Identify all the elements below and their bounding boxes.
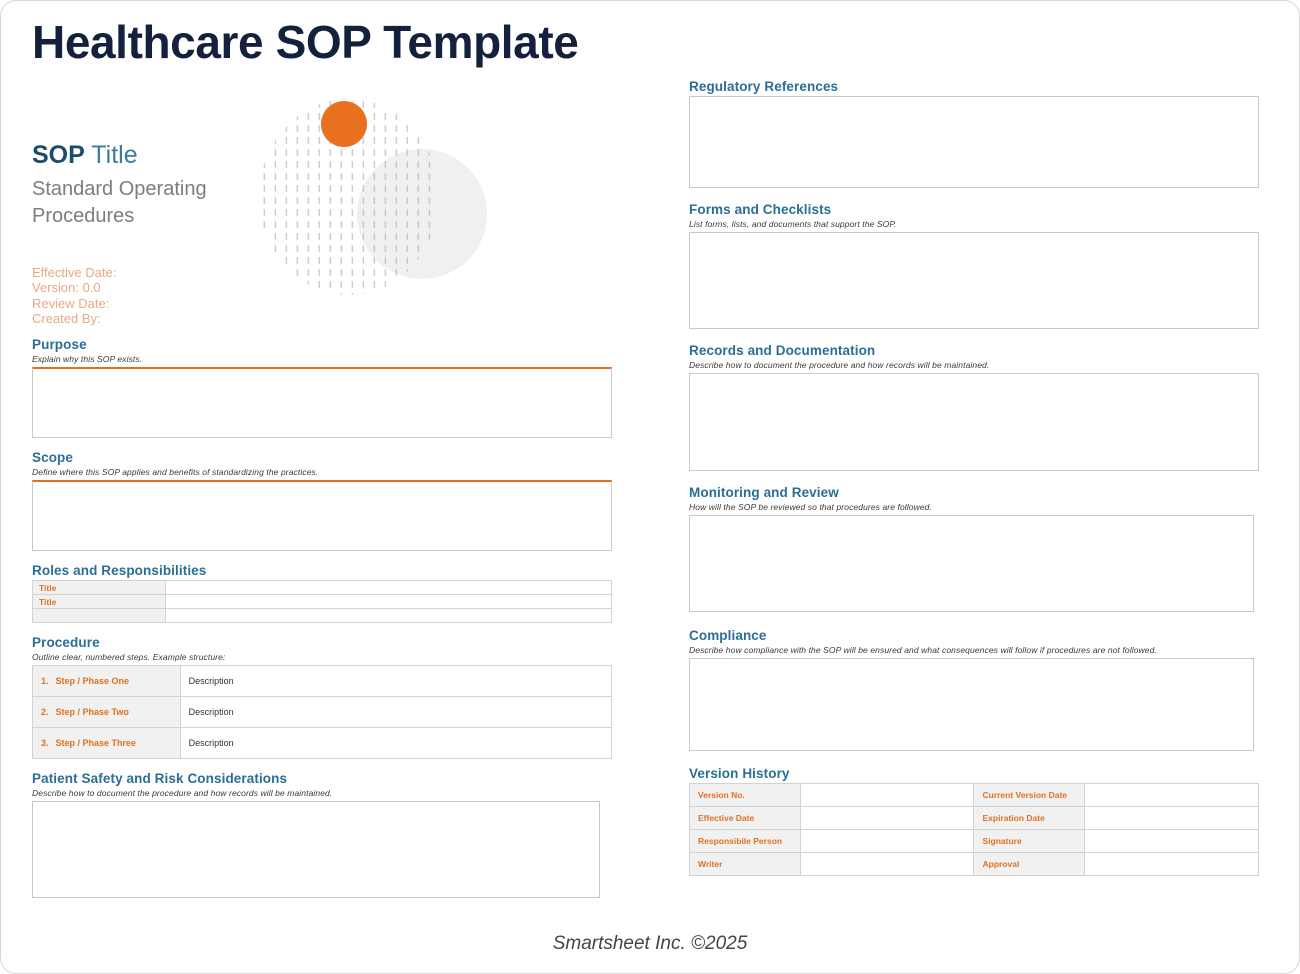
procedure-step-2[interactable]: 2.Step / Phase Two: [33, 697, 181, 728]
version-value-effective-date[interactable]: [800, 807, 974, 830]
version-value-responsible-person[interactable]: [800, 830, 974, 853]
roles-label-2[interactable]: Title: [33, 595, 166, 609]
table-row: [33, 609, 612, 623]
procedure-step-2-label: Step / Phase Two: [56, 707, 129, 717]
version-label-writer: Writer: [690, 853, 801, 876]
regulatory-heading: Regulatory References: [689, 79, 1259, 94]
version-label-approval: Approval: [974, 853, 1085, 876]
compliance-heading: Compliance: [689, 628, 1259, 643]
roles-table: Title Title: [32, 580, 612, 623]
sop-title-word: Title: [85, 141, 138, 169]
section-patient-safety: Patient Safety and Risk Considerations D…: [32, 771, 612, 898]
table-row: Title: [33, 581, 612, 595]
compliance-subtitle: Describe how compliance with the SOP wil…: [689, 645, 1259, 655]
version-history-heading: Version History: [689, 766, 1259, 781]
sop-title-block: SOP Title Standard Operating Procedures: [32, 142, 247, 230]
patient-safety-input[interactable]: [32, 801, 600, 898]
table-row: Version No. Current Version Date: [690, 784, 1259, 807]
table-row: Writer Approval: [690, 853, 1259, 876]
left-column: SOP Title Standard Operating Procedures …: [32, 97, 612, 910]
version-value-version-no[interactable]: [800, 784, 974, 807]
version-value-writer[interactable]: [800, 853, 974, 876]
version-value-expiration-date[interactable]: [1085, 807, 1259, 830]
meta-effective-date: Effective Date:: [32, 265, 116, 280]
sop-template-page: Healthcare SOP Template: [0, 0, 1300, 974]
procedure-desc-2[interactable]: Description: [180, 697, 611, 728]
procedure-step-3-number: 3.: [41, 738, 49, 748]
scope-input[interactable]: [32, 480, 612, 551]
procedure-subtitle: Outline clear, numbered steps. Example s…: [32, 652, 612, 662]
meta-version: Version: 0.0: [32, 280, 116, 295]
page-title: Healthcare SOP Template: [32, 15, 578, 69]
table-row: 3.Step / Phase Three Description: [33, 728, 612, 759]
scope-heading: Scope: [32, 450, 612, 465]
records-heading: Records and Documentation: [689, 343, 1259, 358]
meta-created-by: Created By:: [32, 311, 116, 326]
version-value-approval[interactable]: [1085, 853, 1259, 876]
document-metadata: Effective Date: Version: 0.0 Review Date…: [32, 265, 116, 326]
version-label-version-no: Version No.: [690, 784, 801, 807]
patient-safety-heading: Patient Safety and Risk Considerations: [32, 771, 612, 786]
sop-subtitle: Standard Operating Procedures: [32, 176, 247, 230]
version-label-expiration-date: Expiration Date: [974, 807, 1085, 830]
forms-input[interactable]: [689, 232, 1259, 329]
decorative-graphic: [237, 97, 467, 307]
patient-safety-subtitle: Describe how to document the procedure a…: [32, 788, 612, 798]
monitoring-heading: Monitoring and Review: [689, 485, 1259, 500]
roles-value-3[interactable]: [166, 609, 612, 623]
procedure-step-1-label: Step / Phase One: [56, 676, 130, 686]
forms-subtitle: List forms, lists, and documents that su…: [689, 219, 1259, 229]
monitoring-subtitle: How will the SOP be reviewed so that pro…: [689, 502, 1259, 512]
records-subtitle: Describe how to document the procedure a…: [689, 360, 1259, 370]
table-row: Title: [33, 595, 612, 609]
forms-heading: Forms and Checklists: [689, 202, 1259, 217]
version-label-effective-date: Effective Date: [690, 807, 801, 830]
section-forms: Forms and Checklists List forms, lists, …: [689, 202, 1259, 329]
meta-review-date: Review Date:: [32, 296, 116, 311]
section-procedure: Procedure Outline clear, numbered steps.…: [32, 635, 612, 759]
version-history-table: Version No. Current Version Date Effecti…: [689, 783, 1259, 876]
version-label-current-version-date: Current Version Date: [974, 784, 1085, 807]
procedure-step-2-number: 2.: [41, 707, 49, 717]
roles-heading: Roles and Responsibilities: [32, 563, 612, 578]
monitoring-input[interactable]: [689, 515, 1254, 612]
table-row: Effective Date Expiration Date: [690, 807, 1259, 830]
section-scope: Scope Define where this SOP applies and …: [32, 450, 612, 551]
section-purpose: Purpose Explain why this SOP exists.: [32, 337, 612, 438]
records-input[interactable]: [689, 373, 1259, 471]
roles-value-1[interactable]: [166, 581, 612, 595]
purpose-subtitle: Explain why this SOP exists.: [32, 354, 612, 364]
section-records: Records and Documentation Describe how t…: [689, 343, 1259, 471]
sop-title-line: SOP Title: [32, 142, 247, 170]
orange-circle-shape: [321, 101, 367, 147]
procedure-step-3-label: Step / Phase Three: [56, 738, 137, 748]
procedure-step-3[interactable]: 3.Step / Phase Three: [33, 728, 181, 759]
section-version-history: Version History Version No. Current Vers…: [689, 766, 1259, 876]
footer-copyright: Smartsheet Inc. ©2025: [1, 933, 1299, 955]
table-row: 2.Step / Phase Two Description: [33, 697, 612, 728]
procedure-desc-1[interactable]: Description: [180, 666, 611, 697]
table-row: 1.Step / Phase One Description: [33, 666, 612, 697]
procedure-desc-3[interactable]: Description: [180, 728, 611, 759]
section-regulatory: Regulatory References: [689, 79, 1259, 188]
section-monitoring: Monitoring and Review How will the SOP b…: [689, 485, 1259, 612]
roles-value-2[interactable]: [166, 595, 612, 609]
right-column: Regulatory References Forms and Checklis…: [689, 79, 1259, 888]
brand-block: SOP Title Standard Operating Procedures …: [32, 97, 612, 337]
version-label-signature: Signature: [974, 830, 1085, 853]
section-roles: Roles and Responsibilities Title Title: [32, 563, 612, 623]
procedure-step-1-number: 1.: [41, 676, 49, 686]
sop-word: SOP: [32, 141, 85, 169]
section-compliance: Compliance Describe how compliance with …: [689, 628, 1259, 751]
regulatory-input[interactable]: [689, 96, 1259, 188]
procedure-table: 1.Step / Phase One Description 2.Step / …: [32, 665, 612, 759]
version-label-responsible-person: Responsibile Person: [690, 830, 801, 853]
compliance-input[interactable]: [689, 658, 1254, 751]
roles-label-3[interactable]: [33, 609, 166, 623]
table-row: Responsibile Person Signature: [690, 830, 1259, 853]
purpose-input[interactable]: [32, 367, 612, 438]
procedure-heading: Procedure: [32, 635, 612, 650]
purpose-heading: Purpose: [32, 337, 612, 352]
version-value-current-version-date[interactable]: [1085, 784, 1259, 807]
procedure-step-1[interactable]: 1.Step / Phase One: [33, 666, 181, 697]
roles-label-1[interactable]: Title: [33, 581, 166, 595]
scope-subtitle: Define where this SOP applies and benefi…: [32, 467, 612, 477]
version-value-signature[interactable]: [1085, 830, 1259, 853]
